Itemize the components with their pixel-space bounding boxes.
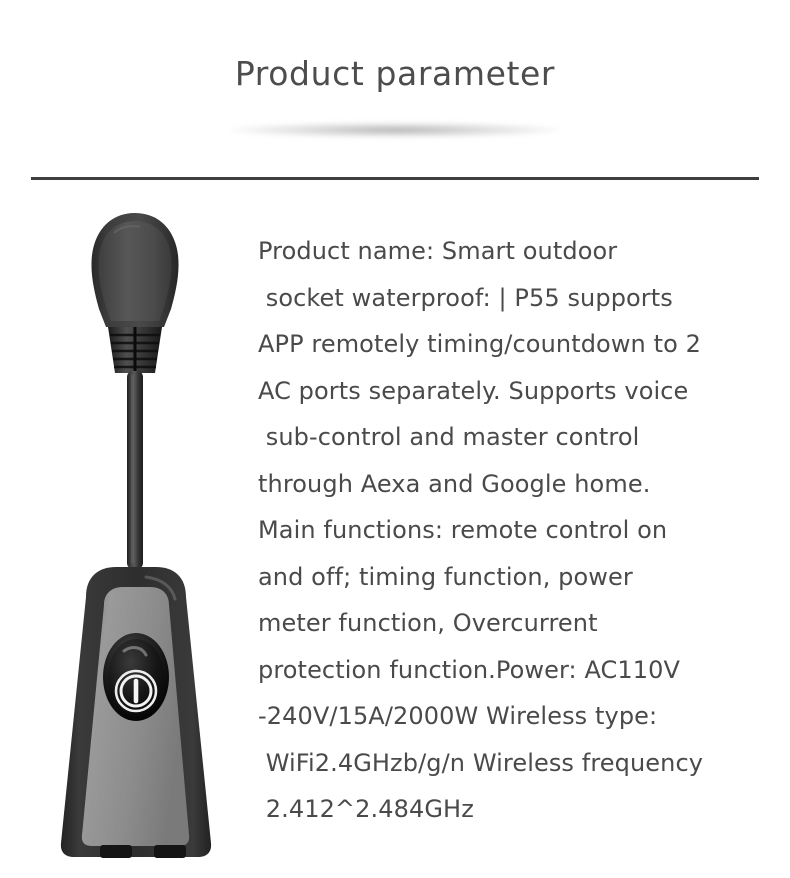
spec-line: protection function.Power: AC110V (258, 647, 778, 694)
product-image (28, 205, 243, 865)
title-shadow-ellipse (230, 122, 560, 138)
power-button (103, 633, 169, 721)
power-cable (127, 371, 143, 569)
strain-relief-upper (108, 327, 162, 373)
product-parameter-page: Product parameter (0, 0, 790, 878)
spec-line: WiFi2.4GHzb/g/n Wireless frequency (258, 740, 778, 787)
title-block: Product parameter (0, 56, 790, 92)
plug-head (91, 213, 178, 327)
spec-line: sub-control and master control (258, 414, 778, 461)
spec-line: meter function, Overcurrent (258, 600, 778, 647)
spec-line: through Aexa and Google home. (258, 461, 778, 508)
foot-left (100, 845, 132, 858)
spec-text-block: Product name: Smart outdoor socket water… (258, 228, 778, 833)
spec-line: Product name: Smart outdoor (258, 228, 778, 275)
spec-line: socket waterproof: | P55 supports (258, 275, 778, 322)
foot-right (154, 845, 186, 858)
spec-line: Main functions: remote control on (258, 507, 778, 554)
header-divider (31, 177, 759, 180)
spec-line: and off; timing function, power (258, 554, 778, 601)
spec-line: AC ports separately. Supports voice (258, 368, 778, 415)
spec-line: -240V/15A/2000W Wireless type: (258, 693, 778, 740)
spec-line: 2.412^2.484GHz (258, 786, 778, 833)
page-title: Product parameter (235, 56, 555, 92)
spec-line: APP remotely timing/countdown to 2 (258, 321, 778, 368)
